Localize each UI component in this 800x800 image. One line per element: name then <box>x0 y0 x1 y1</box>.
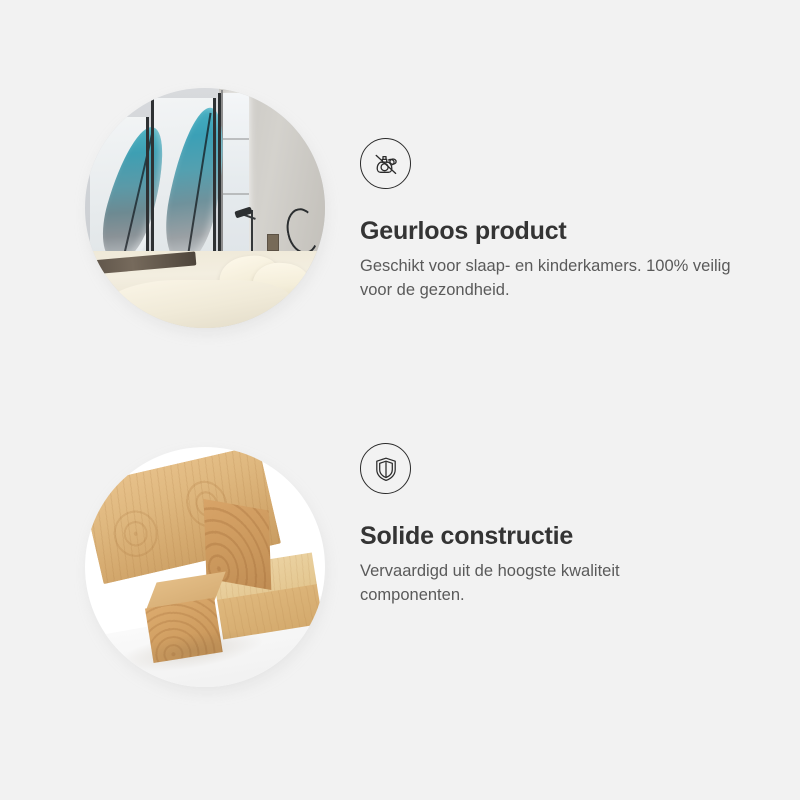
circular-photo-wood <box>85 447 325 687</box>
feature-image-solid-construction <box>85 447 325 687</box>
shield-glyph <box>370 453 402 485</box>
no-fragrance-icon <box>360 138 411 189</box>
feature-block-odourless: Geurloos product Geschikt voor slaap- en… <box>0 48 800 408</box>
feature-description: Vervaardigd uit de hoogste kwaliteit com… <box>360 559 690 608</box>
duvet <box>104 280 291 328</box>
picture-frame <box>267 234 279 251</box>
feature-image-odourless <box>85 88 325 328</box>
feature-text-odourless: Geurloos product Geschikt voor slaap- en… <box>360 138 760 303</box>
feature-title: Geurloos product <box>360 217 760 246</box>
feature-description: Geschikt voor slaap- en kinderkamers. 10… <box>360 254 750 303</box>
feature-title: Solide constructie <box>360 522 760 551</box>
bedroom-window <box>223 93 249 266</box>
no-fragrance-glyph <box>370 148 402 180</box>
feature-block-solid-construction: Solide constructie Vervaardigd uit de ho… <box>0 407 800 767</box>
circular-photo-bedroom <box>85 88 325 328</box>
feature-text-solid-construction: Solide constructie Vervaardigd uit de ho… <box>360 443 760 608</box>
product-feature-page: Geurloos product Geschikt voor slaap- en… <box>0 0 800 800</box>
shield-icon <box>360 443 411 494</box>
bedroom-scene <box>85 88 325 328</box>
wood-scene <box>85 447 325 687</box>
